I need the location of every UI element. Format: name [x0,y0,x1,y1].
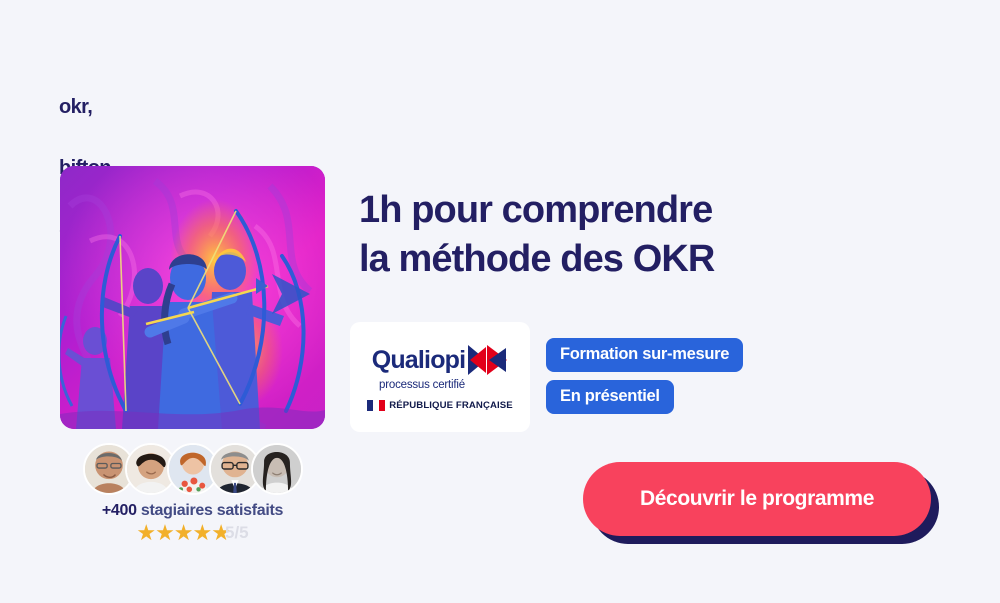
feature-tags: Formation sur-mesure En présentiel [546,338,743,422]
avatar-group [59,443,326,495]
tag-en-presentiel[interactable]: En présentiel [546,380,674,414]
cta-container: Découvrir le programme [583,462,939,544]
qualiopi-wordmark: Qualiopi [372,348,466,373]
students-count-label: +400 stagiaires satisfaits [59,502,326,520]
page-title: 1h pour comprendre la méthode des OKR [359,186,919,283]
tag-row-1: Formation sur-mesure [546,338,743,372]
qualiopi-subtitle: processus certifié [379,379,465,391]
tag-formation-sur-mesure[interactable]: Formation sur-mesure [546,338,743,372]
french-flag-icon [367,400,385,411]
avatar-photo-5 [253,445,301,493]
headline-line-2: la méthode des OKR [359,235,919,284]
qualiopi-arrows-icon [468,343,508,377]
qualiopi-certification-badge: Qualiopi processus certifié RÉPUBLIQUE F… [350,322,530,432]
students-count-text: stagiaires satisfaits [137,502,283,519]
tag-row-2: En présentiel [546,380,743,414]
avatar [251,443,303,495]
discover-program-button[interactable]: Découvrir le programme [583,462,931,536]
star-rating-icon: ★★★★★ [136,522,230,544]
republique-francaise-label: RÉPUBLIQUE FRANÇAISE [389,400,513,411]
qualiopi-wordmark-row: Qualiopi [372,343,509,377]
hero-illustration [60,166,325,429]
logo-line-1: okr, [59,97,134,117]
rating-score: 5/5 [225,523,249,543]
rating: ★★★★★ 5/5 [59,522,326,544]
headline-line-1: 1h pour comprendre [359,186,919,235]
social-proof: +400 stagiaires satisfaits ★★★★★ 5/5 [59,443,326,544]
students-count-number: +400 [102,502,137,519]
hero-image [60,166,325,429]
republique-francaise-row: RÉPUBLIQUE FRANÇAISE [367,400,513,411]
